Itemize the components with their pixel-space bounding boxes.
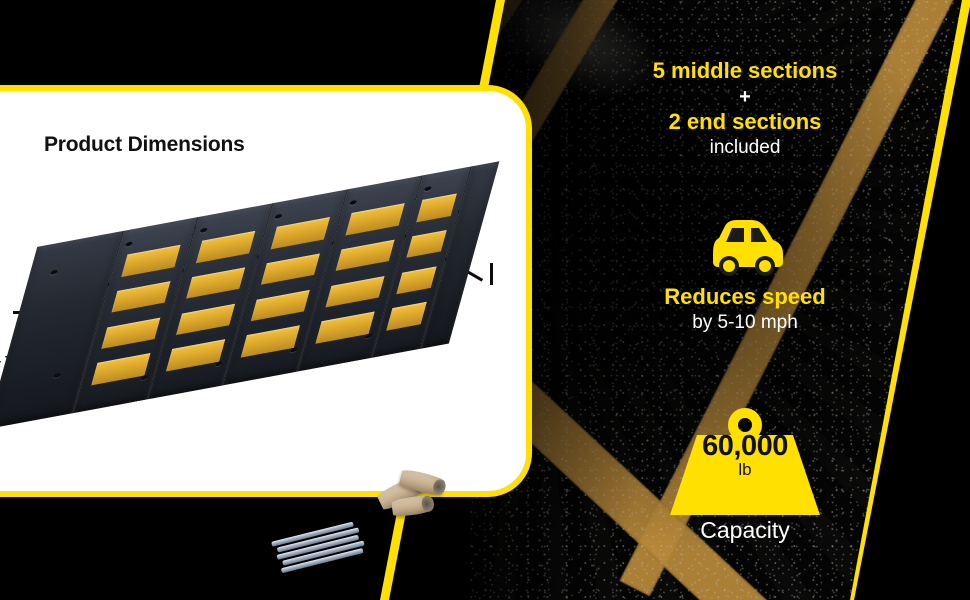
reflective-stripe	[396, 266, 437, 295]
plus-symbol: +	[575, 86, 915, 108]
middle-sections-label: 5 middle sections	[575, 58, 915, 85]
infographic-canvas: Product Dimensions 118 - 11⁄16″ 35 - 1⁄4…	[0, 0, 970, 600]
speed-range-label: by 5-10 mph	[575, 311, 915, 335]
end-sections-label: 2 end sections	[575, 109, 915, 136]
mounting-bolt	[364, 333, 372, 339]
reflective-stripe	[335, 239, 394, 271]
mounting-bolt	[140, 375, 148, 381]
mounting-bolt	[290, 347, 298, 353]
mounting-bolt	[50, 269, 58, 275]
reflective-stripe	[416, 193, 457, 222]
reflective-stripe	[196, 231, 255, 263]
mounting-bolt	[200, 227, 208, 233]
reflective-stripe	[91, 353, 150, 385]
mounting-bolt	[53, 373, 61, 379]
reflective-stripe	[406, 230, 447, 259]
product-photo: 118 - 11⁄16″ 35 - 1⁄4″ 1 - 7⁄8″	[0, 201, 538, 501]
reflective-stripe	[325, 276, 384, 308]
reflective-stripe	[260, 253, 319, 285]
mounting-bolt	[215, 361, 223, 367]
weight-icon: 60,000 lb	[670, 410, 820, 515]
width-tick-end	[490, 263, 493, 285]
reflective-stripe	[175, 303, 234, 335]
reflective-stripe	[101, 317, 160, 349]
speed-bump-product	[0, 161, 499, 429]
reflective-stripe	[165, 340, 224, 372]
car-icon	[699, 216, 791, 278]
included-label: included	[575, 136, 915, 160]
reflective-stripe	[386, 302, 427, 331]
reflective-stripe	[240, 326, 299, 358]
capacity-value: 60,000	[670, 430, 820, 463]
sections-included-block: 5 middle sections + 2 end sections inclu…	[575, 58, 915, 159]
mounting-bolt	[274, 214, 282, 220]
product-dimensions-card: Product Dimensions 118 - 11⁄16″ 35 - 1⁄4…	[0, 85, 532, 497]
reflective-stripe	[270, 217, 329, 249]
mounting-bolt	[424, 186, 432, 192]
capacity-block: 60,000 lb Capacity	[605, 410, 885, 544]
reflective-stripe	[186, 267, 245, 299]
reflective-stripe	[250, 289, 309, 321]
reflective-stripe	[315, 312, 374, 344]
reduces-speed-block: Reduces speed by 5-10 mph	[575, 216, 915, 335]
reflective-stripe	[121, 245, 180, 277]
mounting-bolt	[349, 200, 357, 206]
reflective-stripe	[111, 281, 170, 313]
reduces-speed-label: Reduces speed	[575, 284, 915, 311]
capacity-label: Capacity	[605, 517, 885, 544]
capacity-unit: lb	[670, 460, 820, 480]
mounting-bolt	[125, 241, 133, 247]
page-title: Product Dimensions	[44, 133, 245, 157]
reflective-stripe	[345, 203, 404, 235]
